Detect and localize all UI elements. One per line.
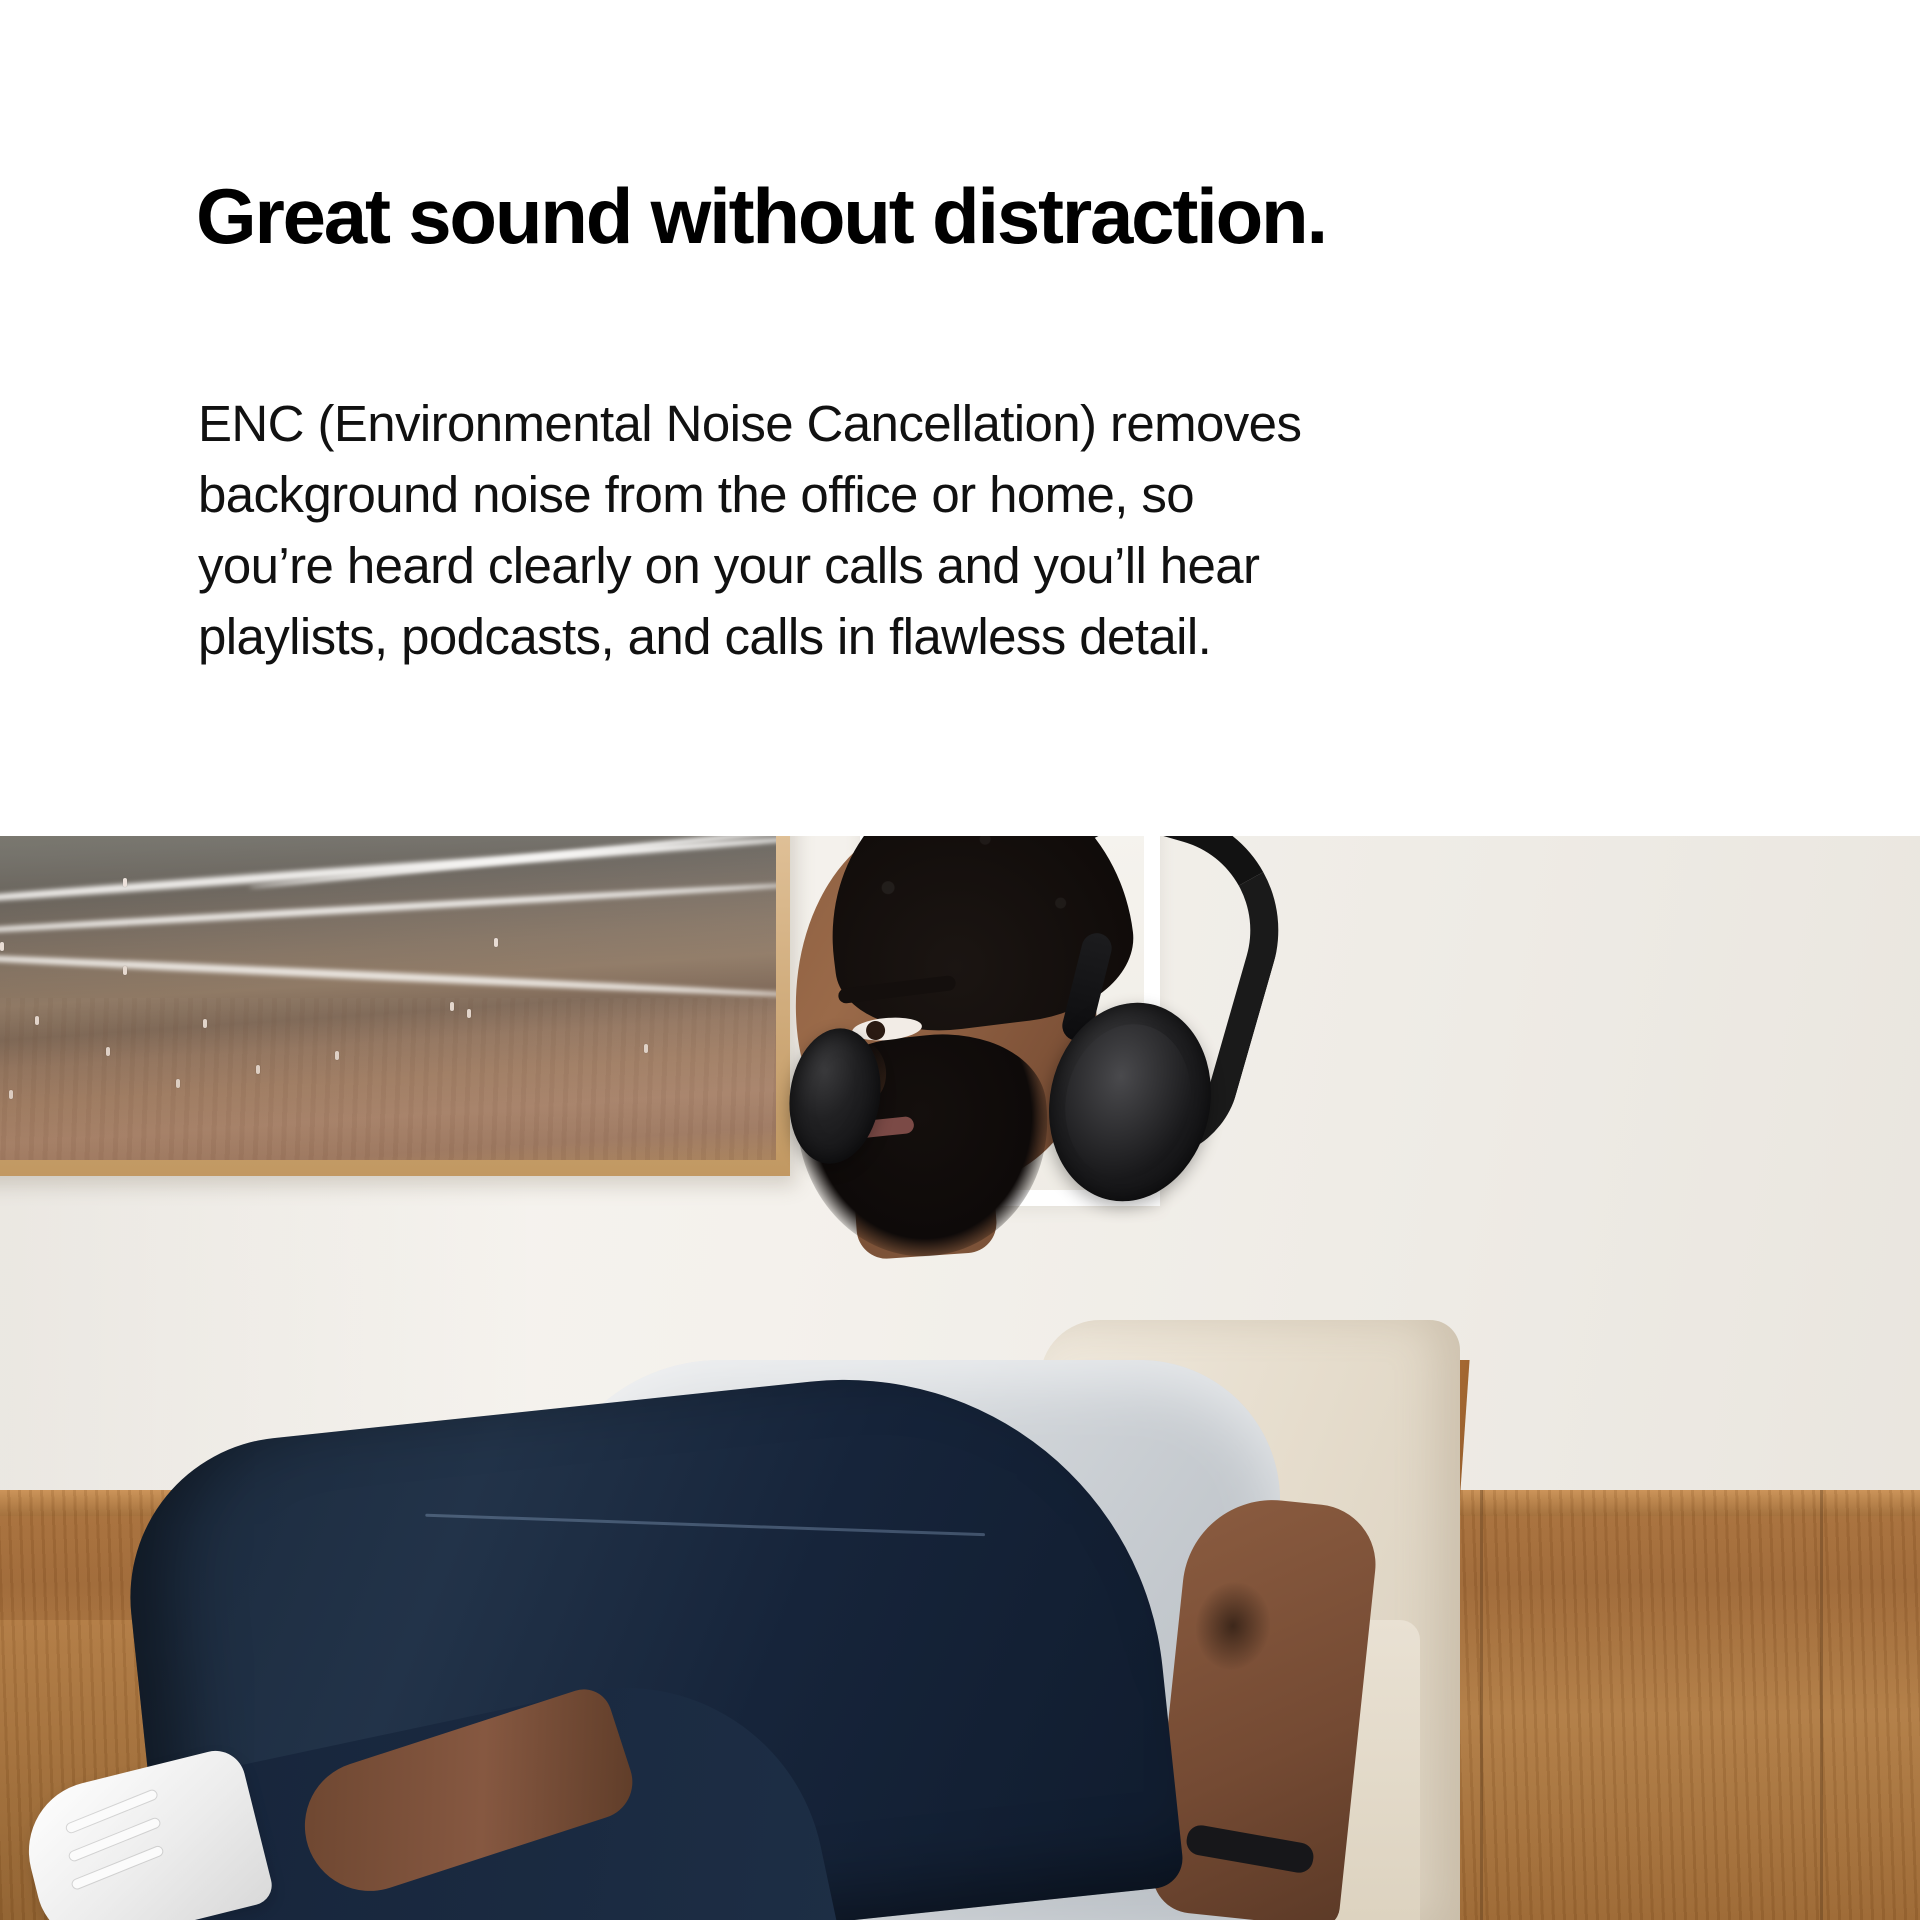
body-line-4: playlists, podcasts, and calls in flawle… xyxy=(198,601,1798,672)
page-title: Great sound without distraction. xyxy=(196,172,1326,260)
marketing-section: Great sound without distraction. ENC (En… xyxy=(0,0,1920,1920)
body-paragraph: ENC (Environmental Noise Cancellation) r… xyxy=(198,388,1798,672)
white-sneaker xyxy=(14,1745,276,1920)
jeans-seam xyxy=(425,1514,985,1537)
pupil xyxy=(865,1020,886,1041)
body-line-1: ENC (Environmental Noise Cancellation) r… xyxy=(198,388,1798,459)
lifestyle-photo xyxy=(0,836,1920,1920)
copy-block: Great sound without distraction. ENC (En… xyxy=(0,0,1920,836)
body-line-2: background noise from the office or home… xyxy=(198,459,1798,530)
person-with-headphones xyxy=(0,836,1920,1920)
body-line-3: you’re heard clearly on your calls and y… xyxy=(198,530,1798,601)
